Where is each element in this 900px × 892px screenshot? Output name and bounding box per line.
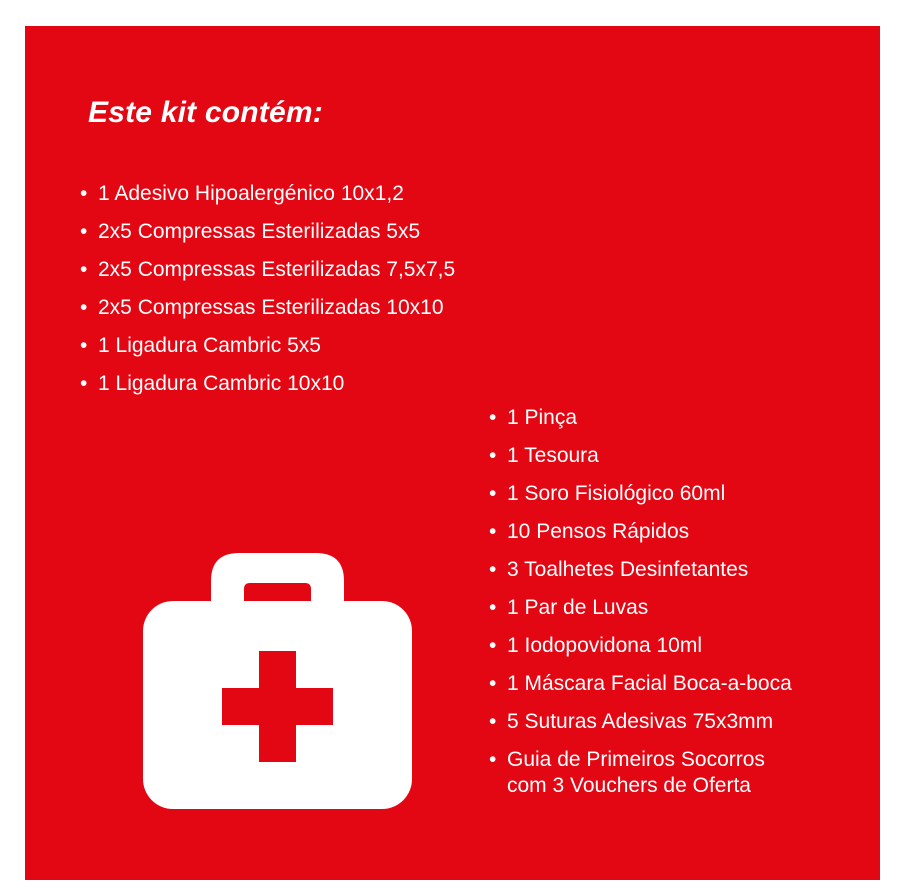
- bullet-icon: •: [489, 671, 507, 697]
- bullet-icon: •: [489, 405, 507, 431]
- list-item: • Guia de Primeiros Socorros com 3 Vouch…: [489, 747, 889, 811]
- kit-contents-list-left: • 1 Adesivo Hipoalergénico 10x1,2 • 2x5 …: [80, 181, 510, 409]
- first-aid-kit-panel: Este kit contém: • 1 Adesivo Hipoalergén…: [25, 26, 880, 880]
- list-item: • 1 Máscara Facial Boca-a-boca: [489, 671, 889, 709]
- list-item-label: 1 Tesoura: [507, 443, 889, 469]
- bullet-icon: •: [489, 595, 507, 621]
- list-item-label: 1 Iodopovidona 10ml: [507, 633, 889, 659]
- list-item-label: 1 Ligadura Cambric 10x10: [98, 371, 510, 397]
- list-item: • 2x5 Compressas Esterilizadas 10x10: [80, 295, 510, 333]
- bullet-icon: •: [489, 709, 507, 735]
- list-item: • 1 Ligadura Cambric 10x10: [80, 371, 510, 409]
- bullet-icon: •: [80, 257, 98, 283]
- list-item: • 1 Iodopovidona 10ml: [489, 633, 889, 671]
- bullet-icon: •: [489, 557, 507, 583]
- first-aid-kit-icon: [135, 541, 420, 821]
- list-item: • 1 Ligadura Cambric 5x5: [80, 333, 510, 371]
- list-item: • 10 Pensos Rápidos: [489, 519, 889, 557]
- bullet-icon: •: [80, 181, 98, 207]
- bullet-icon: •: [489, 519, 507, 545]
- page-title: Este kit contém:: [88, 96, 323, 130]
- list-item-label: Guia de Primeiros Socorros com 3 Voucher…: [507, 747, 889, 799]
- list-item-label: 2x5 Compressas Esterilizadas 10x10: [98, 295, 510, 321]
- list-item-label: 1 Adesivo Hipoalergénico 10x1,2: [98, 181, 510, 207]
- list-item-label: 2x5 Compressas Esterilizadas 5x5: [98, 219, 510, 245]
- bullet-icon: •: [80, 219, 98, 245]
- bullet-icon: •: [489, 443, 507, 469]
- list-item: • 1 Soro Fisiológico 60ml: [489, 481, 889, 519]
- list-item: • 3 Toalhetes Desinfetantes: [489, 557, 889, 595]
- bullet-icon: •: [80, 333, 98, 359]
- bullet-icon: •: [489, 481, 507, 507]
- list-item-label: 3 Toalhetes Desinfetantes: [507, 557, 889, 583]
- list-item-label: 1 Ligadura Cambric 5x5: [98, 333, 510, 359]
- list-item-label: 1 Par de Luvas: [507, 595, 889, 621]
- list-item: • 1 Tesoura: [489, 443, 889, 481]
- list-item: • 2x5 Compressas Esterilizadas 5x5: [80, 219, 510, 257]
- list-item: • 5 Suturas Adesivas 75x3mm: [489, 709, 889, 747]
- bullet-icon: •: [80, 371, 98, 397]
- bullet-icon: •: [80, 295, 98, 321]
- list-item-label: 5 Suturas Adesivas 75x3mm: [507, 709, 889, 735]
- kit-contents-list-right: • 1 Pinça • 1 Tesoura • 1 Soro Fisiológi…: [489, 405, 889, 811]
- list-item-label: 1 Máscara Facial Boca-a-boca: [507, 671, 889, 697]
- list-item: • 2x5 Compressas Esterilizadas 7,5x7,5: [80, 257, 510, 295]
- list-item-label: 10 Pensos Rápidos: [507, 519, 889, 545]
- list-item-label: 1 Pinça: [507, 405, 889, 431]
- bullet-icon: •: [489, 747, 507, 773]
- list-item: • 1 Adesivo Hipoalergénico 10x1,2: [80, 181, 510, 219]
- list-item: • 1 Par de Luvas: [489, 595, 889, 633]
- list-item-label: 2x5 Compressas Esterilizadas 7,5x7,5: [98, 257, 510, 283]
- list-item-label: 1 Soro Fisiológico 60ml: [507, 481, 889, 507]
- list-item: • 1 Pinça: [489, 405, 889, 443]
- bullet-icon: •: [489, 633, 507, 659]
